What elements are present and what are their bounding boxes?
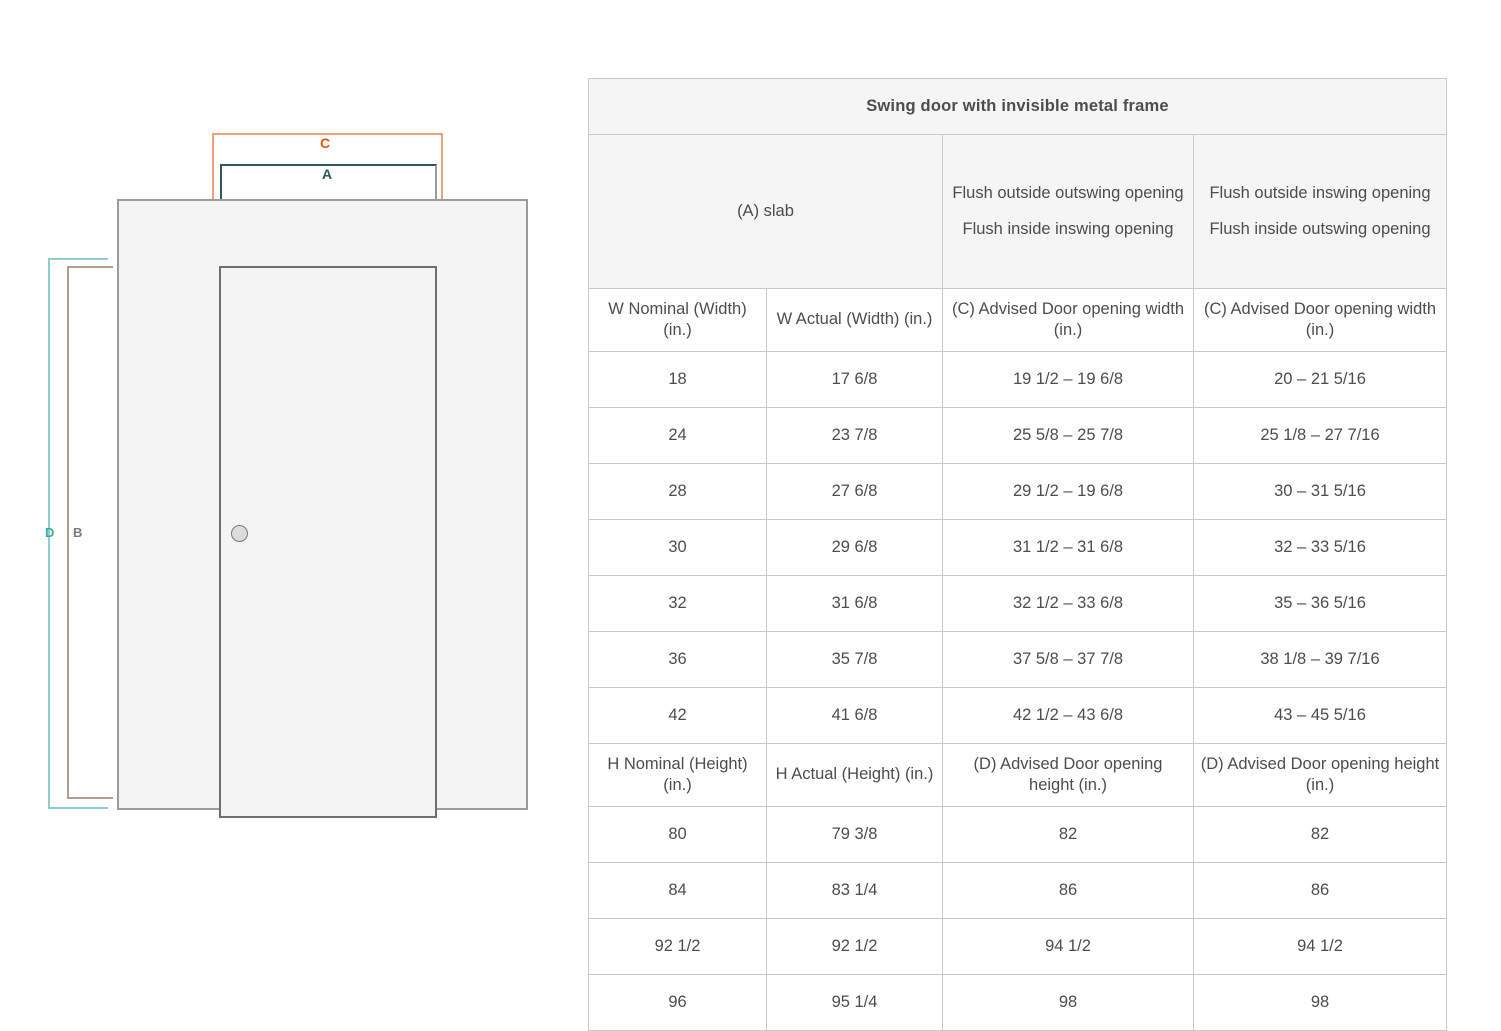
cell-w-nominal: 28 <box>589 464 767 520</box>
cell-w-advised-outswing: 25 5/8 – 25 7/8 <box>943 408 1194 464</box>
table-title-row: Swing door with invisible metal frame <box>589 79 1447 135</box>
page-root: C A D B Swing door with invisible metal … <box>0 0 1501 1000</box>
door-sizes-table: Swing door with invisible metal frame (A… <box>588 78 1447 1031</box>
cell-h-nominal: 96 <box>589 975 767 1031</box>
table-row: 18 17 6/8 19 1/2 – 19 6/8 20 – 21 5/16 <box>589 352 1447 408</box>
cell-w-advised-outswing: 42 1/2 – 43 6/8 <box>943 688 1194 744</box>
table-group-header-row: (A) slab Flush outside outswing opening … <box>589 135 1447 289</box>
cell-h-actual: 92 1/2 <box>767 919 943 975</box>
cell-w-advised-inswing: 25 1/8 – 27 7/16 <box>1194 408 1447 464</box>
table-row: 96 95 1/4 98 98 <box>589 975 1447 1031</box>
table-row: 28 27 6/8 29 1/2 – 19 6/8 30 – 31 5/16 <box>589 464 1447 520</box>
group-header-slab: (A) slab <box>589 135 943 289</box>
table-row: 80 79 3/8 82 82 <box>589 807 1447 863</box>
cell-h-advised-inswing: 94 1/2 <box>1194 919 1447 975</box>
cell-h-advised-outswing: 86 <box>943 863 1194 919</box>
cell-w-advised-inswing: 43 – 45 5/16 <box>1194 688 1447 744</box>
height-header-nominal: H Nominal (Height) (in.) <box>589 744 767 807</box>
table-title: Swing door with invisible metal frame <box>589 79 1447 135</box>
height-header-advised-outswing: (D) Advised Door opening height (in.) <box>943 744 1194 807</box>
cell-w-actual: 41 6/8 <box>767 688 943 744</box>
cell-w-actual: 23 7/8 <box>767 408 943 464</box>
cell-h-actual: 83 1/4 <box>767 863 943 919</box>
table-row: 84 83 1/4 86 86 <box>589 863 1447 919</box>
table-row: 32 31 6/8 32 1/2 – 33 6/8 35 – 36 5/16 <box>589 576 1447 632</box>
cell-h-advised-outswing: 98 <box>943 975 1194 1031</box>
cell-w-nominal: 24 <box>589 408 767 464</box>
group-header-outswing: Flush outside outswing opening Flush ins… <box>943 135 1194 289</box>
cell-h-actual: 79 3/8 <box>767 807 943 863</box>
dimension-label-a: A <box>322 167 333 181</box>
cell-w-advised-outswing: 19 1/2 – 19 6/8 <box>943 352 1194 408</box>
width-header-advised-outswing: (C) Advised Door opening width (in.) <box>943 289 1194 352</box>
height-header-row: H Nominal (Height) (in.) H Actual (Heigh… <box>589 744 1447 807</box>
door-handle-knob-icon <box>231 525 248 542</box>
table-row: 42 41 6/8 42 1/2 – 43 6/8 43 – 45 5/16 <box>589 688 1447 744</box>
cell-w-advised-outswing: 29 1/2 – 19 6/8 <box>943 464 1194 520</box>
cell-h-advised-inswing: 86 <box>1194 863 1447 919</box>
dimension-label-c: C <box>320 136 331 150</box>
cell-w-advised-outswing: 31 1/2 – 31 6/8 <box>943 520 1194 576</box>
width-header-row: W Nominal (Width) (in.) W Actual (Width)… <box>589 289 1447 352</box>
cell-w-advised-inswing: 30 – 31 5/16 <box>1194 464 1447 520</box>
door-dimension-diagram: C A D B <box>0 0 575 1000</box>
cell-w-actual: 29 6/8 <box>767 520 943 576</box>
height-header-actual: H Actual (Height) (in.) <box>767 744 943 807</box>
cell-h-advised-outswing: 94 1/2 <box>943 919 1194 975</box>
cell-w-nominal: 30 <box>589 520 767 576</box>
width-header-advised-inswing: (C) Advised Door opening width (in.) <box>1194 289 1447 352</box>
group-header-inswing-line2: Flush inside outswing opening <box>1209 220 1430 238</box>
cell-w-advised-inswing: 20 – 21 5/16 <box>1194 352 1447 408</box>
dimension-label-b: B <box>73 526 83 539</box>
group-header-inswing: Flush outside inswing opening Flush insi… <box>1194 135 1447 289</box>
cell-w-advised-inswing: 38 1/8 – 39 7/16 <box>1194 632 1447 688</box>
dimension-label-d: D <box>45 526 55 539</box>
width-header-actual: W Actual (Width) (in.) <box>767 289 943 352</box>
group-header-outswing-line1: Flush outside outswing opening <box>952 184 1183 202</box>
spacer <box>949 205 1187 219</box>
cell-h-advised-inswing: 98 <box>1194 975 1447 1031</box>
height-header-advised-inswing: (D) Advised Door opening height (in.) <box>1194 744 1447 807</box>
cell-w-nominal: 36 <box>589 632 767 688</box>
cell-w-advised-inswing: 32 – 33 5/16 <box>1194 520 1447 576</box>
cell-h-nominal: 80 <box>589 807 767 863</box>
table-row: 30 29 6/8 31 1/2 – 31 6/8 32 – 33 5/16 <box>589 520 1447 576</box>
table-row: 36 35 7/8 37 5/8 – 37 7/8 38 1/8 – 39 7/… <box>589 632 1447 688</box>
cell-w-nominal: 32 <box>589 576 767 632</box>
cell-w-actual: 17 6/8 <box>767 352 943 408</box>
spacer <box>1200 205 1440 219</box>
table-row: 92 1/2 92 1/2 94 1/2 94 1/2 <box>589 919 1447 975</box>
table-row: 24 23 7/8 25 5/8 – 25 7/8 25 1/8 – 27 7/… <box>589 408 1447 464</box>
group-header-inswing-line1: Flush outside inswing opening <box>1209 184 1430 202</box>
cell-w-nominal: 18 <box>589 352 767 408</box>
group-header-outswing-line2: Flush inside inswing opening <box>963 220 1174 238</box>
cell-w-advised-inswing: 35 – 36 5/16 <box>1194 576 1447 632</box>
door-sizes-table-wrapper: Swing door with invisible metal frame (A… <box>588 78 1446 920</box>
cell-w-actual: 27 6/8 <box>767 464 943 520</box>
cell-w-nominal: 42 <box>589 688 767 744</box>
cell-h-advised-inswing: 82 <box>1194 807 1447 863</box>
door-slab <box>219 266 437 818</box>
cell-w-advised-outswing: 32 1/2 – 33 6/8 <box>943 576 1194 632</box>
width-header-nominal: W Nominal (Width) (in.) <box>589 289 767 352</box>
cell-h-actual: 95 1/4 <box>767 975 943 1031</box>
cell-h-nominal: 84 <box>589 863 767 919</box>
cell-w-actual: 31 6/8 <box>767 576 943 632</box>
cell-w-actual: 35 7/8 <box>767 632 943 688</box>
cell-w-advised-outswing: 37 5/8 – 37 7/8 <box>943 632 1194 688</box>
cell-h-advised-outswing: 82 <box>943 807 1194 863</box>
cell-h-nominal: 92 1/2 <box>589 919 767 975</box>
